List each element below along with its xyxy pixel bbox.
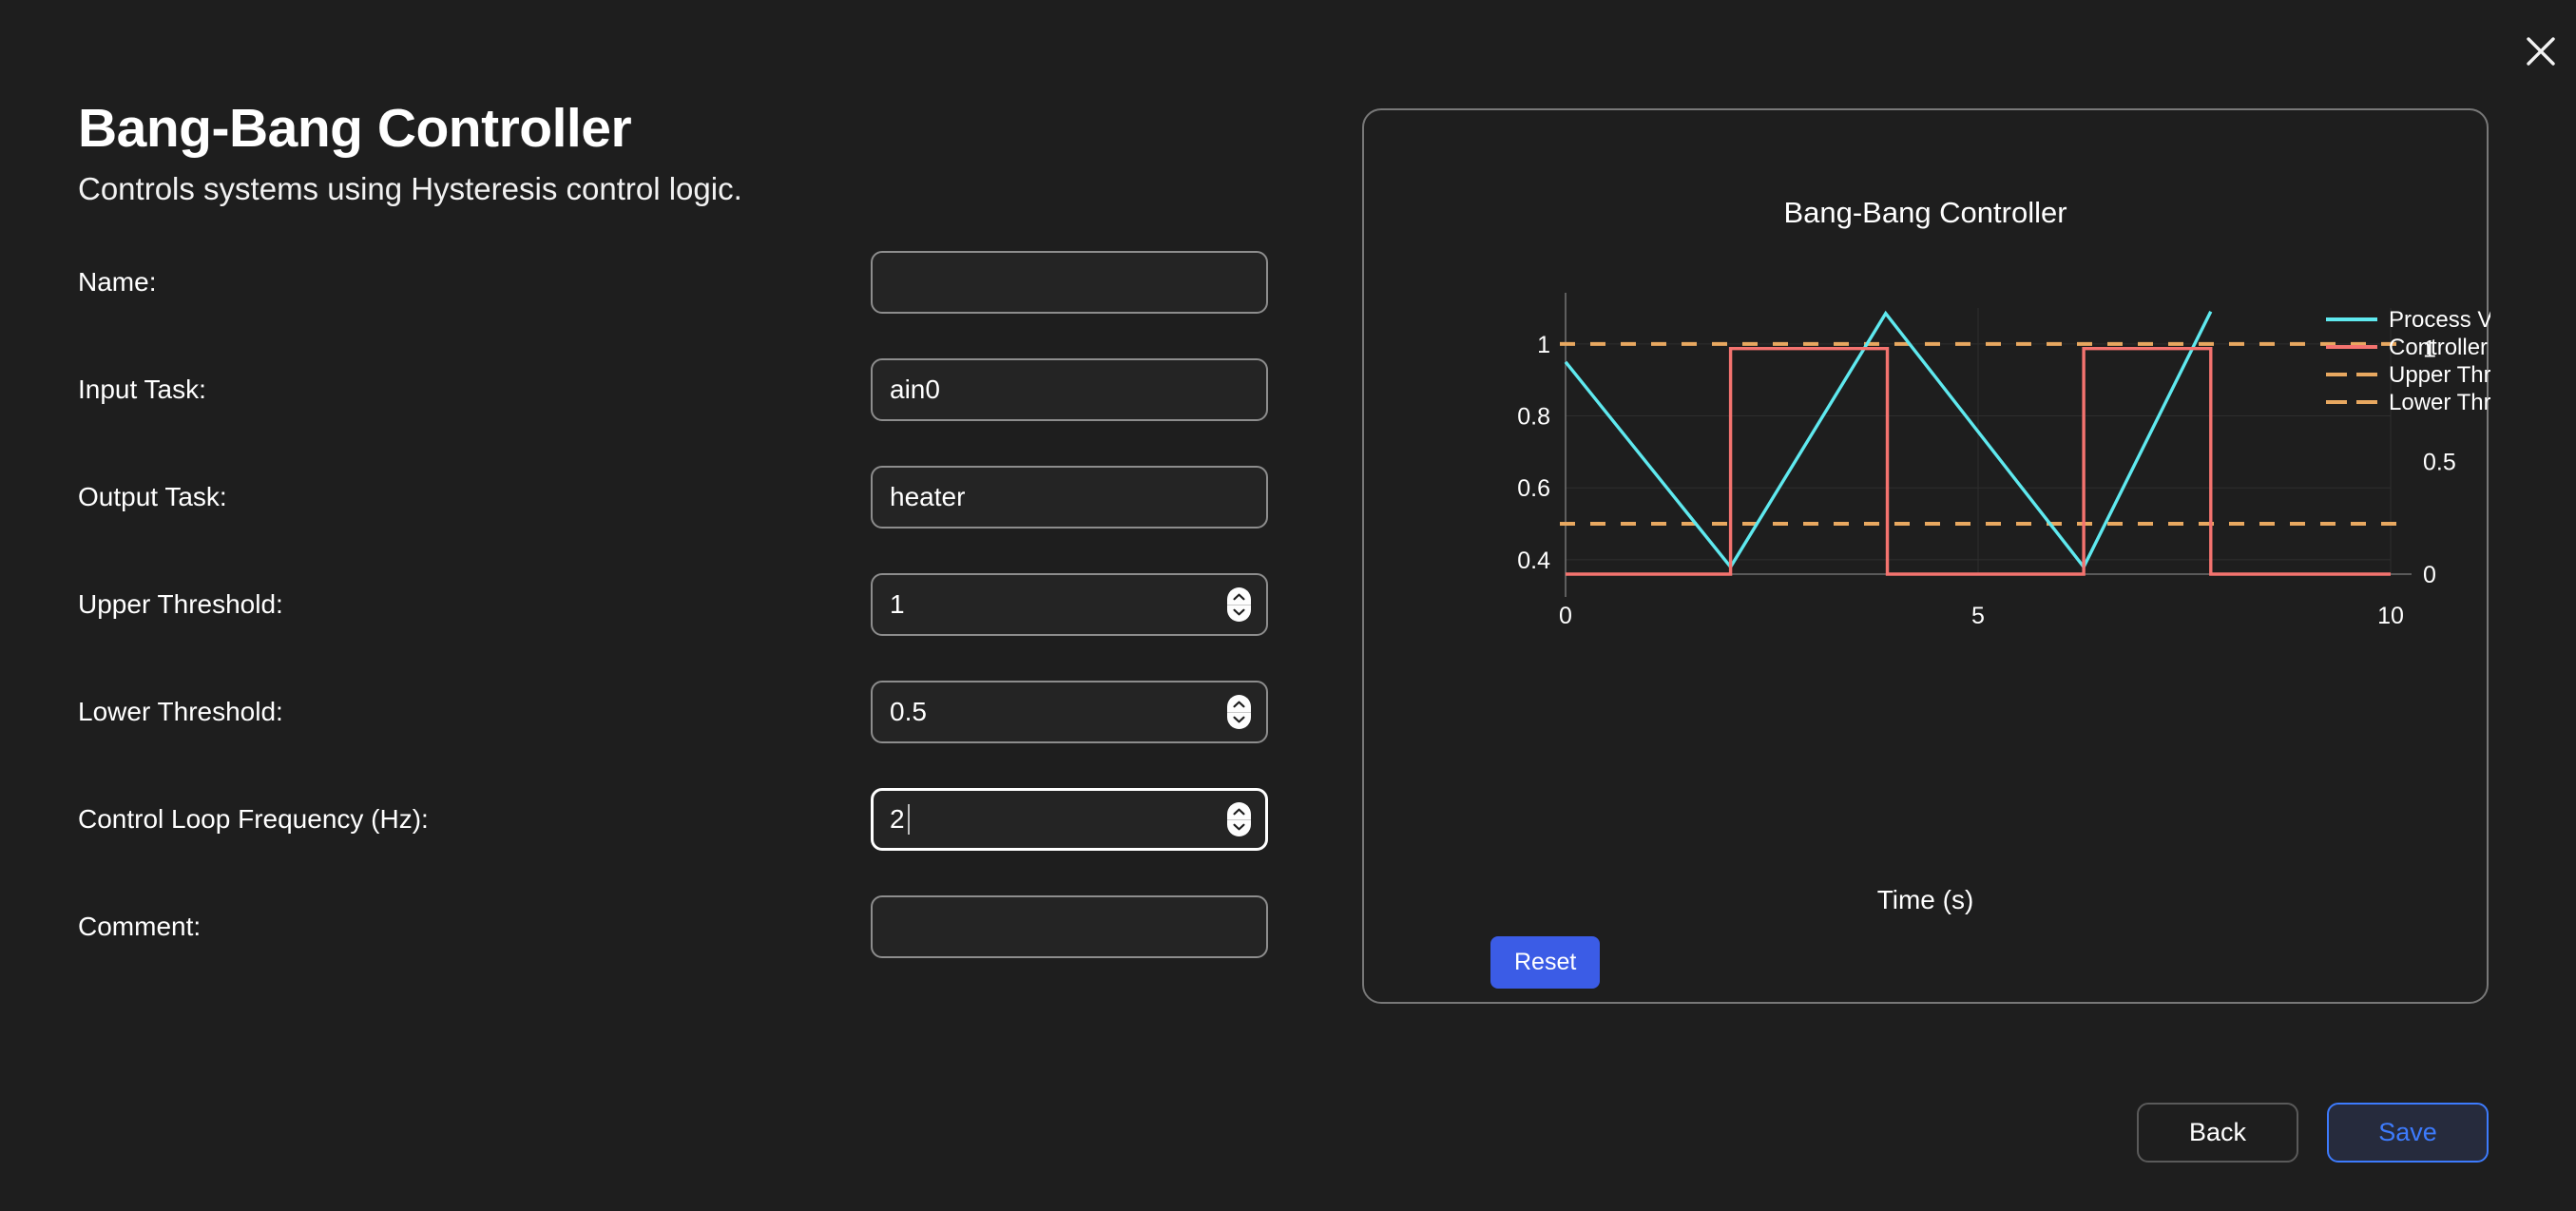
label-input-task: Input Task:: [78, 376, 871, 403]
form-column: Bang-Bang Controller Controls systems us…: [78, 100, 1276, 958]
chart-title: Bang-Bang Controller: [1364, 196, 2487, 230]
svg-text:0.6: 0.6: [1517, 475, 1550, 502]
svg-text:Process Variable: Process Variable: [2389, 307, 2490, 333]
svg-text:0.5: 0.5: [2423, 449, 2456, 475]
chart-plot: 0.40.60.8100.510510Process VariableContr…: [1364, 243, 2490, 833]
chart-panel: Bang-Bang Controller 0.40.60.8100.510510…: [1362, 108, 2489, 1004]
name-input[interactable]: [871, 251, 1268, 314]
form-row-output-task: Output Task: heater: [78, 466, 1276, 529]
form-row-upper-threshold: Upper Threshold: 1: [78, 573, 1276, 636]
upper-threshold-stepper[interactable]: [1227, 587, 1251, 622]
field-wrap-upper-threshold: 1: [871, 573, 1268, 636]
reset-button[interactable]: Reset: [1490, 936, 1600, 989]
lower-threshold-stepper[interactable]: [1227, 695, 1251, 729]
form-fields: Name: Input Task: ain0 Output Task: heat…: [78, 251, 1276, 958]
label-output-task: Output Task:: [78, 484, 871, 510]
field-wrap-control-loop-frequency: 2: [871, 788, 1268, 851]
dialog-footer: Back Save: [2137, 1103, 2489, 1163]
label-upper-threshold: Upper Threshold:: [78, 591, 871, 618]
chart-svg: 0.40.60.8100.510510Process VariableContr…: [1364, 243, 2490, 833]
label-lower-threshold: Lower Threshold:: [78, 699, 871, 725]
stepper-divider: [1227, 819, 1251, 820]
chevron-down-icon: [1233, 716, 1245, 723]
comment-input[interactable]: [871, 895, 1268, 958]
control-loop-frequency-stepper[interactable]: [1227, 802, 1251, 836]
save-button[interactable]: Save: [2327, 1103, 2489, 1163]
field-wrap-name: [871, 251, 1268, 314]
label-comment: Comment:: [78, 913, 871, 940]
svg-text:Lower Threshold: Lower Threshold: [2389, 390, 2490, 415]
svg-text:0.8: 0.8: [1517, 404, 1550, 431]
lower-threshold-input[interactable]: [871, 681, 1268, 743]
svg-text:Upper Threshold: Upper Threshold: [2389, 362, 2490, 388]
stepper-divider: [1227, 605, 1251, 605]
chevron-up-icon: [1233, 593, 1245, 601]
form-row-lower-threshold: Lower Threshold: 0.5: [78, 681, 1276, 743]
stepper-divider: [1227, 712, 1251, 713]
input-task-input[interactable]: [871, 358, 1268, 421]
chevron-down-icon: [1233, 823, 1245, 831]
bang-bang-controller-dialog: Bang-Bang Controller Controls systems us…: [0, 0, 2576, 1211]
back-button[interactable]: Back: [2137, 1103, 2298, 1163]
output-task-input[interactable]: [871, 466, 1268, 529]
control-loop-frequency-input[interactable]: [871, 788, 1268, 851]
form-row-comment: Comment:: [78, 895, 1276, 958]
field-wrap-lower-threshold: 0.5: [871, 681, 1268, 743]
svg-text:10: 10: [2377, 603, 2404, 629]
chevron-up-icon: [1233, 701, 1245, 708]
field-wrap-comment: [871, 895, 1268, 958]
svg-text:0: 0: [2423, 562, 2436, 588]
label-control-loop-frequency: Control Loop Frequency (Hz):: [78, 806, 871, 833]
upper-threshold-input[interactable]: [871, 573, 1268, 636]
chevron-down-icon: [1233, 608, 1245, 616]
svg-text:0.4: 0.4: [1517, 548, 1550, 574]
page-subtitle: Controls systems using Hysteresis contro…: [78, 171, 1276, 207]
chevron-up-icon: [1233, 808, 1245, 816]
form-row-name: Name:: [78, 251, 1276, 314]
field-wrap-input-task: ain0: [871, 358, 1268, 421]
chart-x-axis-label: Time (s): [1364, 885, 2487, 915]
form-row-control-loop-frequency: Control Loop Frequency (Hz): 2: [78, 788, 1276, 851]
field-wrap-output-task: heater: [871, 466, 1268, 529]
form-row-input-task: Input Task: ain0: [78, 358, 1276, 421]
svg-text:Controller Output: Controller Output: [2389, 335, 2490, 360]
label-name: Name:: [78, 269, 871, 296]
close-icon[interactable]: [2514, 25, 2567, 78]
svg-text:5: 5: [1971, 603, 1985, 629]
page-title: Bang-Bang Controller: [78, 100, 1276, 159]
svg-text:1: 1: [1537, 332, 1550, 358]
svg-text:0: 0: [1559, 603, 1572, 629]
